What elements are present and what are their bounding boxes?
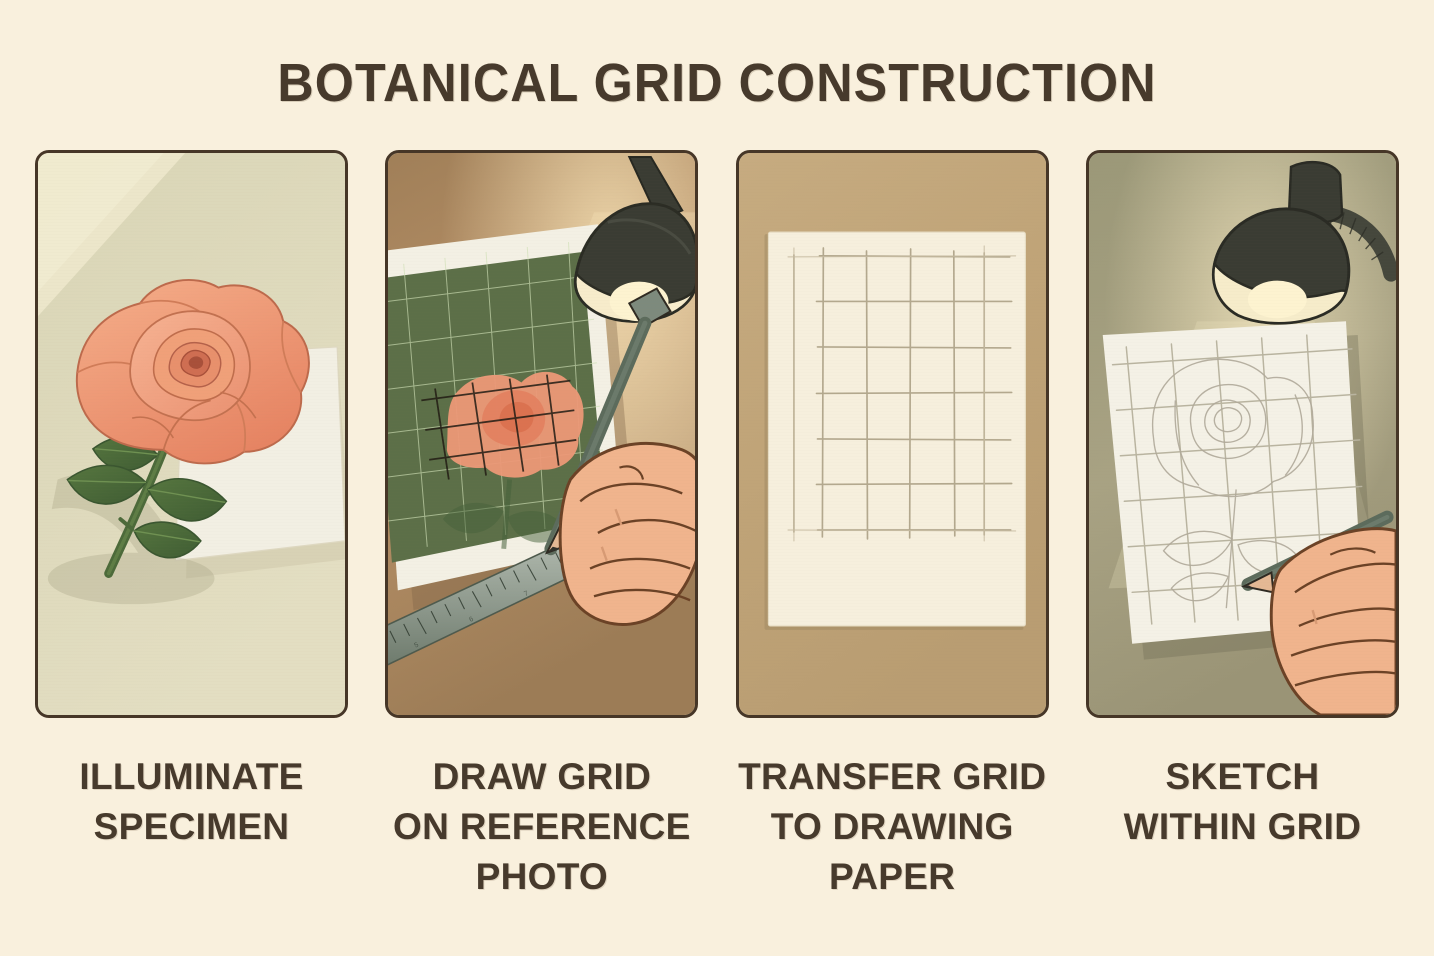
panel-row: 5 6 7 xyxy=(35,150,1399,722)
lamp-bulb xyxy=(1248,281,1307,319)
illustration-transfer-grid xyxy=(739,153,1046,715)
hand-palm xyxy=(560,443,695,624)
caption-row: ILLUMINATE SPECIMEN DRAW GRID ON REFEREN… xyxy=(35,752,1399,902)
caption-draw-grid-on-reference-photo: DRAW GRID ON REFERENCE PHOTO xyxy=(385,752,698,902)
panel-sketch-within-grid[interactable] xyxy=(1086,150,1399,718)
infographic-root: BOTANICAL GRID CONSTRUCTION xyxy=(0,0,1434,956)
panel-draw-grid-on-reference-photo[interactable]: 5 6 7 xyxy=(385,150,698,718)
page-title: BOTANICAL GRID CONSTRUCTION xyxy=(50,52,1384,114)
drawing-paper xyxy=(764,232,1025,630)
caption-transfer-grid-to-drawing-paper: TRANSFER GRID TO DRAWING PAPER xyxy=(736,752,1049,902)
panel-transfer-grid-to-drawing-paper[interactable] xyxy=(736,150,1049,718)
illustration-illuminate-specimen xyxy=(38,153,345,715)
caption-sketch-within-grid: SKETCH WITHIN GRID xyxy=(1086,752,1399,902)
panel-illuminate-specimen[interactable] xyxy=(35,150,348,718)
illustration-draw-grid: 5 6 7 xyxy=(388,153,695,715)
illustration-sketch-within-grid xyxy=(1089,153,1396,715)
caption-illuminate-specimen: ILLUMINATE SPECIMEN xyxy=(35,752,348,902)
